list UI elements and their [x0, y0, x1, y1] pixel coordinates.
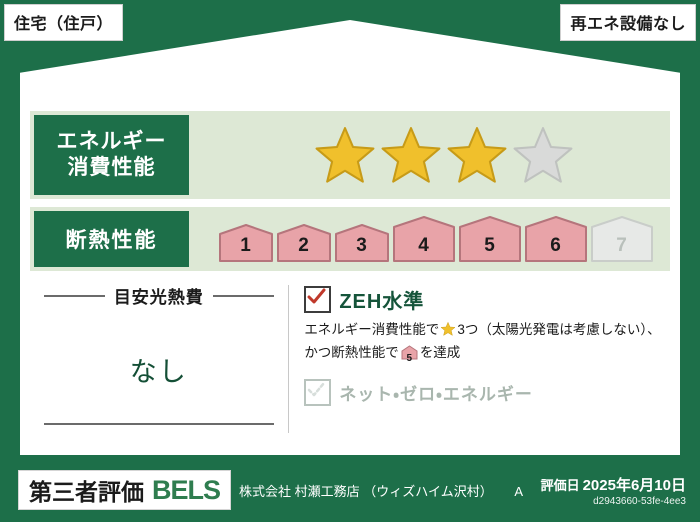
insulation-performance-row: 断熱性能 1234567 — [30, 207, 670, 271]
energy-cost-heading: 目安光熱費 — [44, 283, 274, 308]
rule-right — [213, 295, 274, 297]
evaluation-date-value: 2025年6月10日 — [583, 477, 686, 494]
net-zero-energy-label: ネット・ゼロ・エネルギー — [339, 380, 533, 405]
insulation-level-label: 2 — [275, 235, 333, 257]
insulation-level-scale: 1234567 — [217, 215, 655, 263]
zeh-description: エネルギー消費性能で3つ（太陽光発電は考慮しない）、かつ断熱性能で5を達成 — [304, 320, 664, 367]
bels-logo: 第三者評価 BELS — [18, 470, 231, 510]
star-filled-icon — [379, 124, 443, 186]
energy-performance-tag: エネルギー 消費性能 — [34, 115, 189, 195]
badge-renewable-equipment: 再エネ設備なし — [560, 4, 696, 41]
insulation-level-5: 5 — [457, 215, 523, 263]
insulation-level-label: 5 — [457, 235, 523, 257]
insulation-level-label: 3 — [333, 235, 391, 257]
bels-logo-en: BELS — [152, 475, 220, 506]
badge-building-type: 住宅（住戸） — [4, 4, 123, 41]
insulation-performance-content: 1234567 — [189, 207, 670, 271]
zeh-checkbox[interactable] — [304, 286, 331, 313]
insulation-level-4: 4 — [391, 215, 457, 263]
footer: 第三者評価 BELS 株式会社 村瀬工務店 （ウィズハイム沢村） A 評価日20… — [0, 458, 700, 522]
document-id: d2943660-53fe-4ee3 — [541, 496, 686, 507]
star-filled-icon — [313, 124, 377, 186]
star-empty-icon — [511, 124, 575, 186]
zeh-desc-part4: を達成 — [420, 345, 461, 360]
insulation-level-label: 7 — [589, 235, 655, 257]
star-rating — [313, 124, 575, 186]
inline-house-level: 5 — [401, 351, 418, 366]
energy-tag-line1: エネルギー — [57, 129, 167, 155]
zeh-block: ZEH水準 エネルギー消費性能で3つ（太陽光発電は考慮しない）、かつ断熱性能で5… — [288, 279, 670, 447]
evaluation-info: 評価日2025年6月10日 d2943660-53fe-4ee3 — [541, 474, 686, 507]
energy-performance-row: エネルギー 消費性能 — [30, 111, 670, 199]
insulation-level-label: 1 — [217, 235, 275, 257]
label-body: エネルギー 消費性能 断熱性能 1234567 目安光熱費 なし — [20, 103, 680, 455]
net-zero-energy-row: ネット・ゼロ・エネルギー — [304, 379, 664, 406]
energy-cost-bottom-rule — [44, 423, 274, 425]
lower-section: 目安光熱費 なし ZEH水準 エネルギー消費性能で3つ（太 — [30, 279, 670, 447]
bels-energy-label: 建築物省エネ法に基づく 省エネ性能ラベル 住宅（住戸） 再エネ設備なし エネルギ… — [0, 0, 700, 522]
energy-cost-value: なし — [44, 350, 274, 389]
star-filled-icon — [445, 124, 509, 186]
energy-performance-content — [189, 111, 670, 199]
insulation-performance-tag: 断熱性能 — [34, 211, 189, 267]
zeh-title: ZEH水準 — [339, 285, 424, 314]
insulation-level-label: 4 — [391, 235, 457, 257]
insulation-level-3: 3 — [333, 223, 391, 263]
company-name: 株式会社 村瀬工務店 （ウィズハイム沢村） A — [239, 481, 523, 500]
insulation-level-label: 6 — [523, 235, 589, 257]
energy-cost-block: 目安光熱費 なし — [30, 279, 288, 447]
zeh-heading: ZEH水準 — [304, 285, 664, 314]
bels-logo-ja: 第三者評価 — [29, 473, 144, 507]
company-name-text: 株式会社 村瀬工務店 （ウィズハイム沢村） — [239, 484, 493, 499]
insulation-level-2: 2 — [275, 223, 333, 263]
insulation-level-6: 6 — [523, 215, 589, 263]
insulation-level-7: 7 — [589, 215, 655, 263]
zeh-desc-part2: 3つ（太陽光発電 — [457, 322, 559, 337]
net-zero-energy-checkbox[interactable] — [304, 379, 331, 406]
insulation-level-1: 1 — [217, 223, 275, 263]
evaluation-date-line: 評価日2025年6月10日 — [541, 474, 686, 495]
grade-label: A — [514, 484, 523, 499]
inline-house-icon: 5 — [401, 345, 418, 366]
inline-star-icon — [440, 325, 456, 340]
rule-left — [44, 295, 105, 297]
evaluation-date-label: 評価日 — [541, 478, 580, 493]
energy-tag-line2: 消費性能 — [68, 155, 156, 181]
energy-cost-heading-text: 目安光熱費 — [114, 283, 204, 308]
zeh-desc-part1: エネルギー消費性能で — [304, 322, 439, 337]
